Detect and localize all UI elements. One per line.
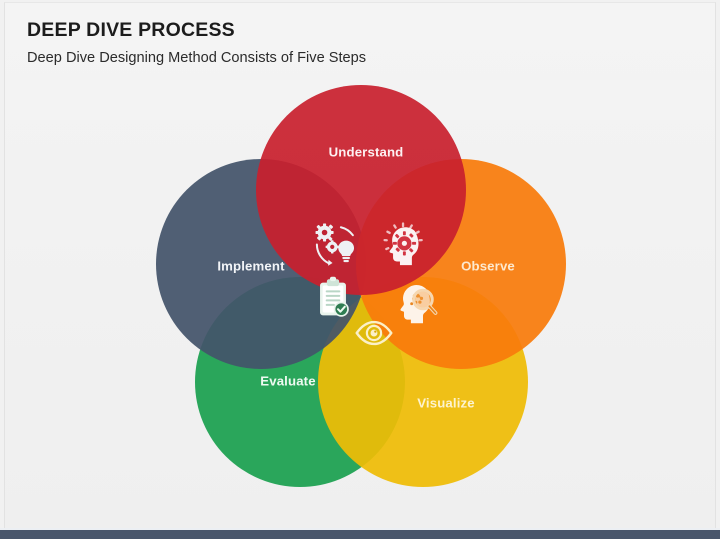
page-subtitle: Deep Dive Designing Method Consists of F… — [27, 41, 647, 67]
venn-label-observe: Observe — [461, 258, 515, 273]
venn-diagram: Understand Observe Visualize Evaluate Im… — [5, 77, 716, 497]
slide-surface: DEEP DIVE PROCESS Deep Dive Designing Me… — [4, 2, 716, 529]
heading-block: DEEP DIVE PROCESS Deep Dive Designing Me… — [27, 20, 647, 67]
footer-bar — [0, 530, 720, 539]
page-title: DEEP DIVE PROCESS — [27, 20, 647, 41]
venn-label-evaluate: Evaluate — [260, 373, 315, 388]
venn-circle-understand[interactable] — [256, 85, 466, 295]
venn-diagram-canvas: Understand Observe Visualize Evaluate Im… — [105, 77, 617, 497]
slide-root: DEEP DIVE PROCESS Deep Dive Designing Me… — [0, 0, 720, 539]
venn-label-understand: Understand — [329, 144, 404, 159]
venn-label-implement: Implement — [217, 258, 285, 273]
venn-label-visualize: Visualize — [417, 395, 475, 410]
